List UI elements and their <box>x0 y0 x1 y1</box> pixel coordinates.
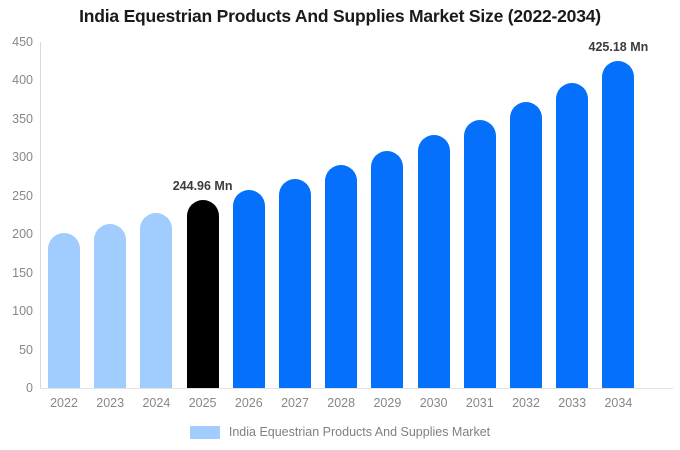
bar-shape <box>140 213 172 388</box>
bar[interactable] <box>325 165 357 388</box>
bar-shape <box>187 200 219 388</box>
y-axis-tick-label: 50 <box>19 343 33 357</box>
bar[interactable] <box>233 190 265 388</box>
legend-item[interactable]: India Equestrian Products And Supplies M… <box>190 425 490 439</box>
x-axis-ticks: 2022202320242025202620272028202920302031… <box>40 396 673 416</box>
bar-shape <box>279 179 311 388</box>
y-axis-tick-label: 450 <box>12 35 33 49</box>
bar-shape <box>233 190 265 388</box>
bar[interactable] <box>140 213 172 388</box>
x-axis-tick-label: 2024 <box>140 396 172 410</box>
y-axis-tick-label: 350 <box>12 112 33 126</box>
bar[interactable] <box>556 83 588 388</box>
bar-shape <box>510 102 542 388</box>
bar-shape <box>94 224 126 388</box>
bar[interactable] <box>464 120 496 388</box>
legend-swatch <box>190 426 220 439</box>
y-axis-tick-label: 200 <box>12 227 33 241</box>
x-axis-tick-label: 2032 <box>510 396 542 410</box>
x-axis-tick-label: 2031 <box>464 396 496 410</box>
legend-label: India Equestrian Products And Supplies M… <box>229 425 490 439</box>
x-axis-tick-label: 2029 <box>371 396 403 410</box>
bar-shape <box>556 83 588 388</box>
x-axis-tick-label: 2027 <box>279 396 311 410</box>
bar-value-label: 425.18 Mn <box>589 40 649 54</box>
x-axis-tick-label: 2033 <box>556 396 588 410</box>
bar-shape <box>418 135 450 388</box>
bar[interactable] <box>418 135 450 388</box>
bar-shape <box>48 233 80 388</box>
y-axis-tick-label: 250 <box>12 189 33 203</box>
x-axis-tick-label: 2022 <box>48 396 80 410</box>
bar-shape <box>602 61 634 388</box>
x-axis-tick-label: 2028 <box>325 396 357 410</box>
bar[interactable] <box>510 102 542 388</box>
x-axis-tick-label: 2025 <box>187 396 219 410</box>
bar-shape <box>464 120 496 388</box>
chart-legend: India Equestrian Products And Supplies M… <box>0 425 680 439</box>
y-axis-ticks: 050100150200250300350400450 <box>0 0 33 450</box>
x-axis-tick-label: 2030 <box>418 396 450 410</box>
x-axis-tick-label: 2026 <box>233 396 265 410</box>
bar-shape <box>325 165 357 388</box>
y-axis-tick-label: 0 <box>26 381 33 395</box>
bar[interactable]: 244.96 Mn <box>187 200 219 388</box>
bar-series: 244.96 Mn425.18 Mn <box>40 42 673 388</box>
bar[interactable] <box>279 179 311 388</box>
y-axis-tick-label: 300 <box>12 150 33 164</box>
bar-value-label: 244.96 Mn <box>173 179 233 193</box>
bar[interactable]: 425.18 Mn <box>602 61 634 388</box>
chart-container: India Equestrian Products And Supplies M… <box>0 0 680 450</box>
bar[interactable] <box>48 233 80 388</box>
y-axis-tick-label: 100 <box>12 304 33 318</box>
bar[interactable] <box>371 151 403 388</box>
bar-shape <box>371 151 403 388</box>
x-axis-tick-label: 2034 <box>602 396 634 410</box>
bar[interactable] <box>94 224 126 388</box>
x-axis-tick-label: 2023 <box>94 396 126 410</box>
x-axis-baseline <box>40 388 673 389</box>
y-axis-tick-label: 150 <box>12 266 33 280</box>
chart-title: India Equestrian Products And Supplies M… <box>0 6 680 27</box>
y-axis-tick-label: 400 <box>12 73 33 87</box>
